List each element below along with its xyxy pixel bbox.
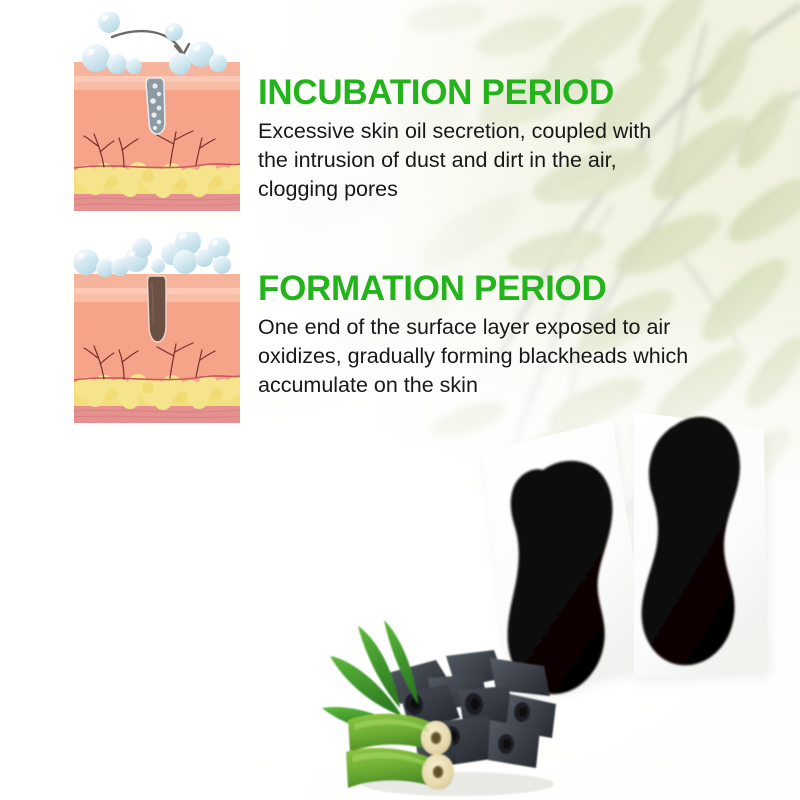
section-heading-formation: FORMATION PERIOD [258, 270, 728, 307]
clogged-pore [146, 78, 165, 134]
section-formation: FORMATION PERIOD One end of the surface … [258, 270, 728, 399]
skin-diagram-formation [62, 232, 252, 428]
oil-bubbles-cluster [73, 232, 231, 277]
bamboo-leaves [322, 620, 418, 731]
blackhead-plug [148, 276, 167, 342]
section-heading-incubation: INCUBATION PERIOD [258, 74, 728, 111]
section-body-incubation: Excessive skin oil secretion, coupled wi… [258, 117, 658, 203]
section-incubation: INCUBATION PERIOD Excessive skin oil sec… [258, 74, 728, 203]
product-infographic-poster: INCUBATION PERIOD Excessive skin oil sec… [0, 0, 800, 800]
skin-diagram-incubation [62, 2, 252, 227]
bamboo-stalks [346, 714, 454, 790]
product-photo-bamboo-charcoal [318, 612, 578, 800]
section-body-formation: One end of the surface layer exposed to … [258, 313, 698, 399]
